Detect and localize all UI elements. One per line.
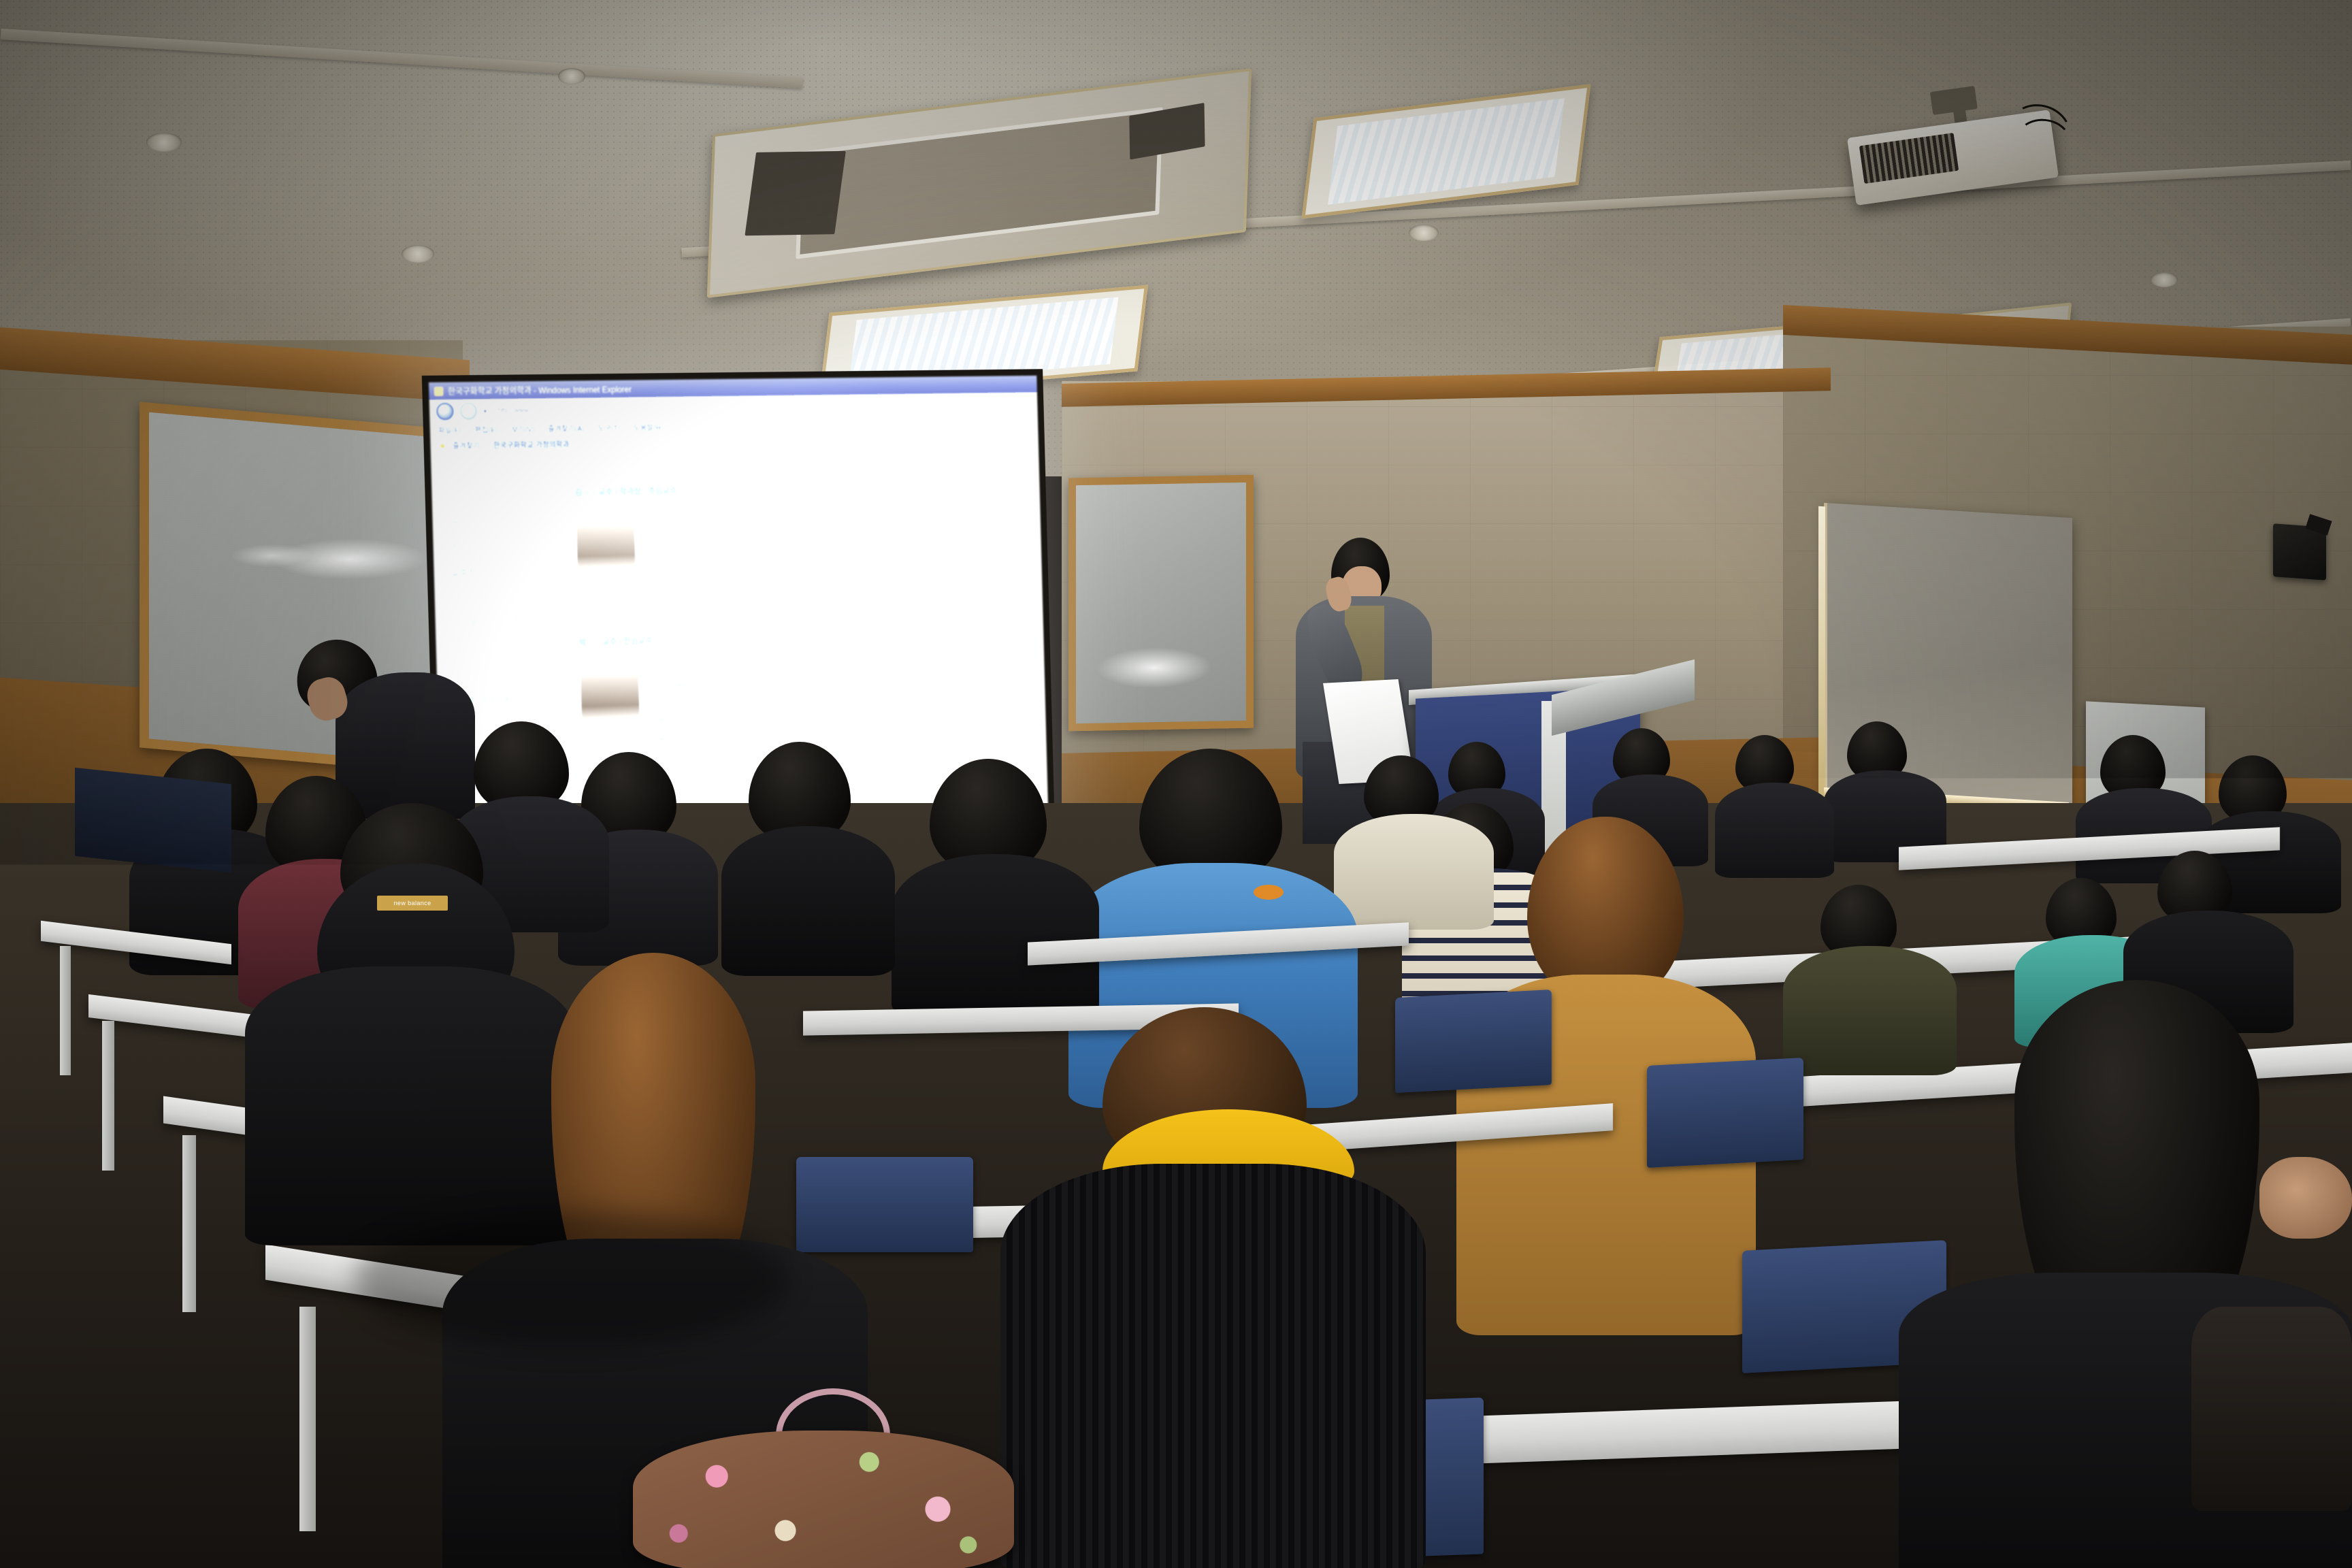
field-label-research: 연구분야 <box>652 510 698 522</box>
backpack-body <box>633 1431 1014 1568</box>
desk-leg <box>102 1021 114 1171</box>
ceiling-downlight <box>2151 272 2178 287</box>
field-value-courses: 의학개론 · 임상실습 · 건강관리학 <box>713 527 811 540</box>
field-value-phone: 031-000-0000 <box>717 713 762 725</box>
faculty-field-row: e-mail @ <box>653 542 1020 558</box>
person-torso <box>892 854 1099 1017</box>
faculty-field-row: 담당과목 해부생리학 · 기초의학 · 실습지도 <box>656 668 1024 691</box>
ie-window-title: 한국구화학교 가정의학과 - Windows Internet Explorer <box>448 383 632 397</box>
faculty-field-row: e-mail @ <box>657 687 1024 708</box>
more-button[interactable] <box>979 478 1014 491</box>
field-value-career: 전임강사 · 조교수 <box>714 583 766 595</box>
audience-member <box>1000 1007 1422 1568</box>
field-value-research: 재활의학 <box>716 658 742 670</box>
back-icon[interactable] <box>436 402 454 420</box>
field-label-career: 경력 <box>654 585 700 597</box>
whiteboard-back <box>1068 475 1254 732</box>
person-head <box>1527 817 1684 1000</box>
favorites-tab[interactable]: 한국구화학교 가정의학과 <box>485 437 576 453</box>
field-value-research: 가정의학 <box>712 510 738 521</box>
address-input[interactable]: http://www. <box>493 396 1031 419</box>
audience-member <box>892 759 1096 1004</box>
person-black-knit-sweater <box>1000 1164 1426 1568</box>
person-hand <box>2259 1157 2352 1239</box>
faculty-field-row: 연락처 031-000-0000 <box>657 704 1025 728</box>
more-button[interactable] <box>982 623 1017 637</box>
favorites-label[interactable]: 즐겨찾기 <box>453 440 480 452</box>
field-value-email: @ <box>717 697 724 705</box>
chevron-down-icon[interactable]: ▾ <box>483 406 487 415</box>
star-icon: ★ <box>438 441 446 452</box>
field-label-email: e-mail <box>653 549 698 558</box>
faculty-field-row: 연락처 031-000-0000 <box>653 558 1021 578</box>
scene-shadow <box>1497 1395 2110 1545</box>
field-value-phone: 031-000-0000 <box>713 564 758 576</box>
ceiling-downlight <box>402 245 434 263</box>
field-label-courses: 담당과목 <box>652 529 698 541</box>
sidebar-item-courses[interactable]: 교과목소개·이수체계 <box>453 612 565 627</box>
field-label-courses: 담당과목 <box>656 679 702 691</box>
faculty-field-row: 연구분야 가정의학 <box>652 504 1019 522</box>
desk-leg <box>60 946 71 1075</box>
faculty-name: 김 ○ ○ 교수 / 학과장 · 주임교수 <box>574 485 677 498</box>
desk-leg <box>299 1307 316 1531</box>
puffer-accent <box>1254 885 1284 900</box>
field-label-phone: 연락처 <box>653 566 700 577</box>
handbag-buckle <box>1703 1330 1750 1357</box>
field-label-phone: 연락처 <box>657 715 703 727</box>
ceiling-downlight <box>146 133 182 152</box>
faculty-fields: 연구분야 재활의학 담당과목 해부생리학 · 기초의학 · 실습지도 e-mai… <box>656 649 1026 755</box>
field-label-career: 경력 <box>658 734 704 746</box>
sidebar-item-faculty[interactable]: 교수진 <box>451 563 563 578</box>
ie-window-icon <box>434 387 443 395</box>
scene-shadow <box>354 1211 789 1347</box>
sidebar-item-org[interactable]: 조직 <box>451 539 563 555</box>
faculty-field-row: 경력 전임강사 · 조교수 <box>654 577 1022 598</box>
menu-item-tools[interactable]: 도구(T) <box>598 423 621 434</box>
sidebar-item-history[interactable]: 연혁 <box>450 514 562 529</box>
sidebar-item-curriculum[interactable]: 교육과정 <box>452 587 564 603</box>
menu-item-favorites[interactable]: 즐겨찾기(A) <box>548 423 585 435</box>
ceiling-downlight <box>1409 225 1439 241</box>
light-lamp <box>1328 98 1565 205</box>
faculty-card: 박 ○ ○ 교수 / 전임교수 연구분야 재활의학 <box>571 621 1026 758</box>
desk-leg <box>182 1135 196 1312</box>
field-label-email: e-mail <box>657 698 702 708</box>
address-value: http://www. <box>497 406 530 414</box>
field-value-email: @ <box>713 549 720 557</box>
ceiling-downlight <box>558 68 585 84</box>
faculty-field-row: 연구분야 재활의학 <box>656 649 1024 671</box>
field-label-research: 연구분야 <box>656 659 702 672</box>
forward-icon[interactable] <box>459 402 477 420</box>
faculty-photo <box>575 512 636 593</box>
faculty-field-row: 담당과목 의학개론 · 임상실습 · 건강관리학 <box>652 523 1019 541</box>
classroom-chair <box>1647 1058 1803 1168</box>
menu-item-help[interactable]: 도움말(H) <box>634 422 664 433</box>
person-hoodie-cream <box>1334 814 1494 930</box>
faculty-fields: 연구분야 가정의학 담당과목 의학개론 · 임상실습 · 건강관리학 e-mai… <box>652 504 1022 606</box>
faculty-name: 박 ○ ○ 교수 / 전임교수 <box>578 634 653 648</box>
menu-item-view[interactable]: 보기(V) <box>511 424 535 435</box>
brand-logo-patch: new balance <box>377 896 448 911</box>
field-value-courses: 해부생리학 · 기초의학 · 실습지도 <box>716 675 813 689</box>
fur-collar <box>2191 1307 2352 1511</box>
menu-item-edit[interactable]: 편집(E) <box>474 424 498 435</box>
audience-member <box>1334 755 1490 926</box>
audience-member <box>721 742 892 966</box>
lecture-hall-photo: 한국구화학교 가정의학과 - Windows Internet Explorer… <box>0 0 2352 1568</box>
faculty-card: 김 ○ ○ 교수 / 학과장 · 주임교수 연구분야 가정의학 <box>567 475 1022 608</box>
paisley-backpack <box>633 1388 1014 1568</box>
board-glare <box>1096 647 1212 689</box>
menu-item-file[interactable]: 파일(F) <box>438 425 461 436</box>
classroom-chair <box>75 768 231 872</box>
audience-member <box>1824 721 1946 857</box>
